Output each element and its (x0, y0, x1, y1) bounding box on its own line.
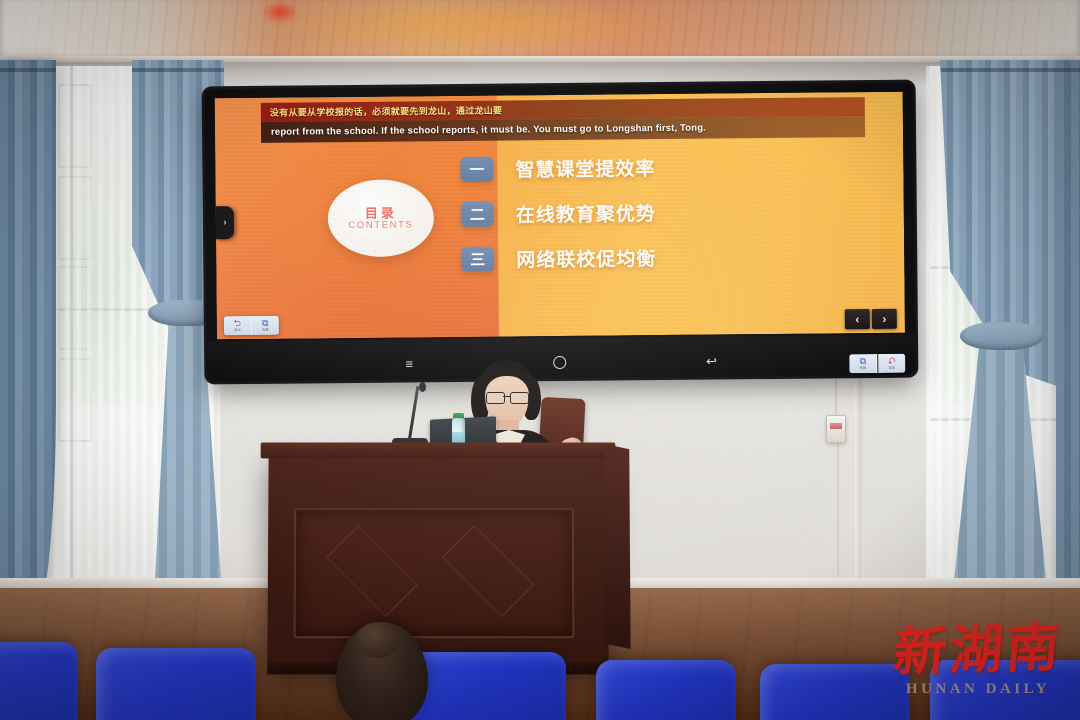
screen-toolbar-left[interactable]: ⮌ 退出 ⧉ 投屏 (224, 316, 279, 336)
board-bottom-bezel: ≡ ↩ ⧉ 投屏 ⮏ 退出 (207, 335, 915, 382)
next-slide-button[interactable]: › (872, 309, 897, 329)
toolbar-button-label: 投屏 (262, 328, 269, 332)
board-screen[interactable]: 目录 CONTENTS 一 智慧课堂提效率 二 在线教育聚优势 三 网络联校促均… (215, 92, 905, 340)
watermark-chinese: 新湖南 (891, 621, 1064, 680)
cast-screen-icon: ⧉ (262, 319, 269, 328)
prev-slide-button[interactable]: ‹ (845, 309, 870, 329)
toolbar-button-exit-right[interactable]: ⮏ 退出 (878, 354, 905, 373)
wall-conduit-lower (836, 438, 839, 584)
podium-diamond-motif (326, 525, 417, 616)
podium-top-surface (261, 443, 616, 459)
watermark-english: HUNAN DAILY (906, 681, 1050, 698)
watermark: 新湖南 HUNAN DAILY (890, 614, 1066, 708)
chevron-right-icon: › (223, 217, 226, 228)
wall-socket-box[interactable] (826, 415, 846, 443)
podium-front-panel (294, 508, 575, 638)
subtitle-overlay: 没有从要从学校报的话，必须就要先到龙山，通过龙山要 report from th… (261, 97, 865, 143)
screen-toolbar-right[interactable]: ⧉ 投屏 ⮏ 退出 (849, 354, 905, 374)
curtain-far-left (0, 60, 56, 620)
audience-chair (0, 642, 78, 720)
android-navigation-bar[interactable]: ≡ ↩ (207, 353, 915, 373)
toc-label: 网络联校促均衡 (516, 244, 656, 272)
sidebar-expand-handle[interactable]: › (216, 206, 234, 239)
audience-chair (596, 660, 736, 720)
curtain-far-right (1056, 60, 1080, 620)
toc-number-chip: 一 (460, 157, 493, 182)
toc-item: 三 网络联校促均衡 (461, 244, 656, 273)
toc-number-chip: 三 (461, 247, 494, 272)
slide-toc-list: 一 智慧课堂提效率 二 在线教育聚优势 三 网络联校促均衡 (460, 154, 656, 273)
audience-member-hair-bun (356, 622, 400, 658)
toolbar-button-label: 投屏 (859, 366, 866, 370)
gooseneck-microphone-head (419, 382, 426, 392)
exit-icon: ⮌ (234, 319, 241, 328)
contents-badge-cn: 目录 (365, 206, 397, 219)
glasses-icon (485, 392, 529, 402)
toolbar-button-label: 退出 (234, 328, 241, 332)
podium-diamond-motif (442, 525, 533, 616)
toc-item: 一 智慧课堂提效率 (460, 154, 655, 183)
toolbar-button-label: 退出 (888, 366, 895, 370)
cast-screen-icon: ⧉ (859, 357, 866, 366)
toc-label: 在线教育聚优势 (516, 199, 656, 227)
exit-icon: ⮏ (888, 357, 895, 366)
slide-navigation[interactable]: ‹ › (845, 309, 897, 329)
toc-label: 智慧课堂提效率 (515, 154, 655, 182)
toc-number-chip: 二 (461, 202, 494, 227)
toc-item: 二 在线教育聚优势 (461, 199, 656, 228)
back-icon[interactable]: ↩ (706, 354, 717, 367)
audience-chair (96, 648, 256, 720)
podium-side-face (603, 444, 630, 649)
ceiling-red-reflection (262, 2, 298, 22)
toolbar-button-cast[interactable]: ⧉ 投屏 (252, 316, 279, 335)
interactive-smart-board[interactable]: 目录 CONTENTS 一 智慧课堂提效率 二 在线教育聚优势 三 网络联校促均… (205, 83, 916, 382)
socket-slot-icon (830, 423, 842, 429)
contents-badge-en: CONTENTS (348, 220, 413, 230)
podium (267, 452, 608, 666)
menu-icon[interactable]: ≡ (405, 357, 413, 370)
home-icon[interactable] (553, 356, 566, 369)
toolbar-button-exit[interactable]: ⮌ 退出 (224, 316, 252, 335)
photo-scene: 目录 CONTENTS 一 智慧课堂提效率 二 在线教育聚优势 三 网络联校促均… (0, 0, 1080, 720)
audience-chair (760, 664, 910, 720)
curtain-tieback-right (960, 322, 1044, 350)
toolbar-button-cast-right[interactable]: ⧉ 投屏 (849, 354, 877, 373)
ceiling-projection-glow (255, 0, 705, 44)
